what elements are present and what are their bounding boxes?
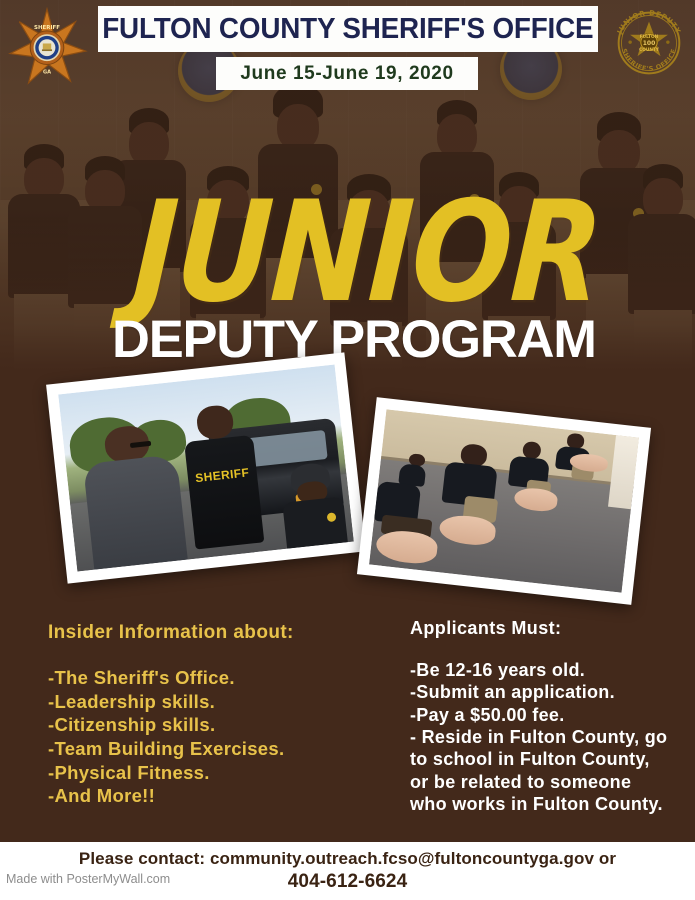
photo-cpr-training	[357, 397, 651, 605]
applicant-requirements-column: Applicants Must: -Be 12-16 years old. -S…	[410, 618, 672, 815]
fulton-county-sheriff-star-badge: SHERIFF GA	[5, 4, 89, 88]
photo-vest-fitting: SHERIFF	[46, 352, 366, 583]
photo-vest-fitting-scene: SHERIFF	[58, 365, 354, 572]
list-item: -And More!!	[48, 784, 378, 808]
page-title: FULTON COUNTY SHERIFF'S OFFICE	[102, 13, 593, 46]
title-junior: JUNIOR	[130, 182, 598, 321]
program-dates: June 15-June 19, 2020	[240, 63, 453, 85]
svg-text:FULTON: FULTON	[640, 34, 659, 40]
header-title-banner: FULTON COUNTY SHERIFF'S OFFICE	[98, 6, 598, 52]
list-item: - Reside in Fulton County, go to school …	[410, 726, 672, 815]
applicant-requirements-heading: Applicants Must:	[410, 618, 672, 639]
list-item: -The Sheriff's Office.	[48, 666, 378, 690]
list-item: -Pay a $50.00 fee.	[410, 704, 672, 726]
list-item: -Submit an application.	[410, 681, 672, 703]
svg-text:SHERIFF: SHERIFF	[34, 25, 60, 31]
list-item: -Be 12-16 years old.	[410, 659, 672, 681]
postermywall-watermark: Made with PosterMyWall.com	[6, 872, 170, 886]
svg-text:COUNTY: COUNTY	[639, 47, 660, 53]
flyer-canvas: FULTON COUNTY SHERIFF'S OFFICE June 15-J…	[0, 0, 695, 900]
header-date-banner: June 15-June 19, 2020	[216, 57, 478, 90]
contact-phone: 404-612-6624	[288, 870, 408, 894]
svg-text:100: 100	[643, 40, 656, 47]
svg-text:GA: GA	[43, 70, 51, 76]
list-item: -Team Building Exercises.	[48, 737, 378, 761]
contact-footer: Please contact: community.outreach.fcso@…	[0, 842, 695, 900]
contact-email-line: Please contact: community.outreach.fcso@…	[79, 848, 616, 870]
photo-cpr-training-scene	[369, 409, 639, 592]
list-item: -Physical Fitness.	[48, 761, 378, 785]
list-item: -Citizenship skills.	[48, 713, 378, 737]
title-deputy-program: DEPUTY PROGRAM	[112, 313, 607, 366]
applicant-requirements-list: -Be 12-16 years old. -Submit an applicat…	[410, 659, 672, 815]
insider-information-heading: Insider Information about:	[48, 622, 378, 644]
insider-information-column: Insider Information about: -The Sheriff'…	[48, 622, 378, 808]
insider-information-list: -The Sheriff's Office. -Leadership skill…	[48, 666, 378, 808]
list-item: -Leadership skills.	[48, 690, 378, 714]
junior-deputy-sheriffs-office-badge: FULTON 100 COUNTY JUNIOR DEPUTY SHERIFF'…	[608, 2, 690, 84]
